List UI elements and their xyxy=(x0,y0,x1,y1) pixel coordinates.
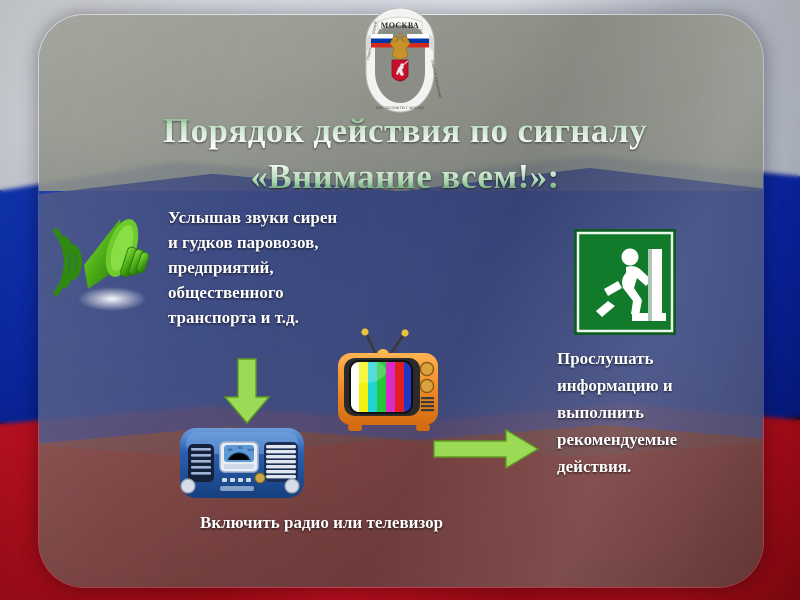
svg-text:108: 108 xyxy=(247,447,254,452)
arrow-down-icon xyxy=(222,357,272,425)
loudspeaker-icon xyxy=(44,203,166,323)
radio-caption-text: Включить радио или телевизор xyxy=(200,508,450,538)
emergency-exit-icon xyxy=(574,229,676,335)
television-icon xyxy=(330,325,450,443)
svg-text:88: 88 xyxy=(228,447,233,452)
slide-title: Порядок действия по сигналу «Внимание вс… xyxy=(60,108,750,200)
moscow-emblem: ГЛАВНОЕ УПРАВЛЕНИЕ МЧС РОССИИ ПО Г. МОСК… xyxy=(352,8,448,116)
title-line-2: «Внимание всем!»: xyxy=(60,154,750,200)
presentation-slide: ГЛАВНОЕ УПРАВЛЕНИЕ МЧС РОССИИ ПО Г. МОСК… xyxy=(0,0,800,600)
svg-text:98: 98 xyxy=(238,445,243,450)
step-left-text: Услышав звуки сирен и гудков паровозов, … xyxy=(168,205,348,330)
svg-text:МОСКВА: МОСКВА xyxy=(381,21,419,30)
title-line-1: Порядок действия по сигналу xyxy=(163,111,647,150)
step-right-text: Прослушать информацию и выполнить рекоме… xyxy=(557,345,747,480)
radio-icon: 8898108 xyxy=(172,418,312,506)
arrow-right-icon xyxy=(432,428,540,470)
